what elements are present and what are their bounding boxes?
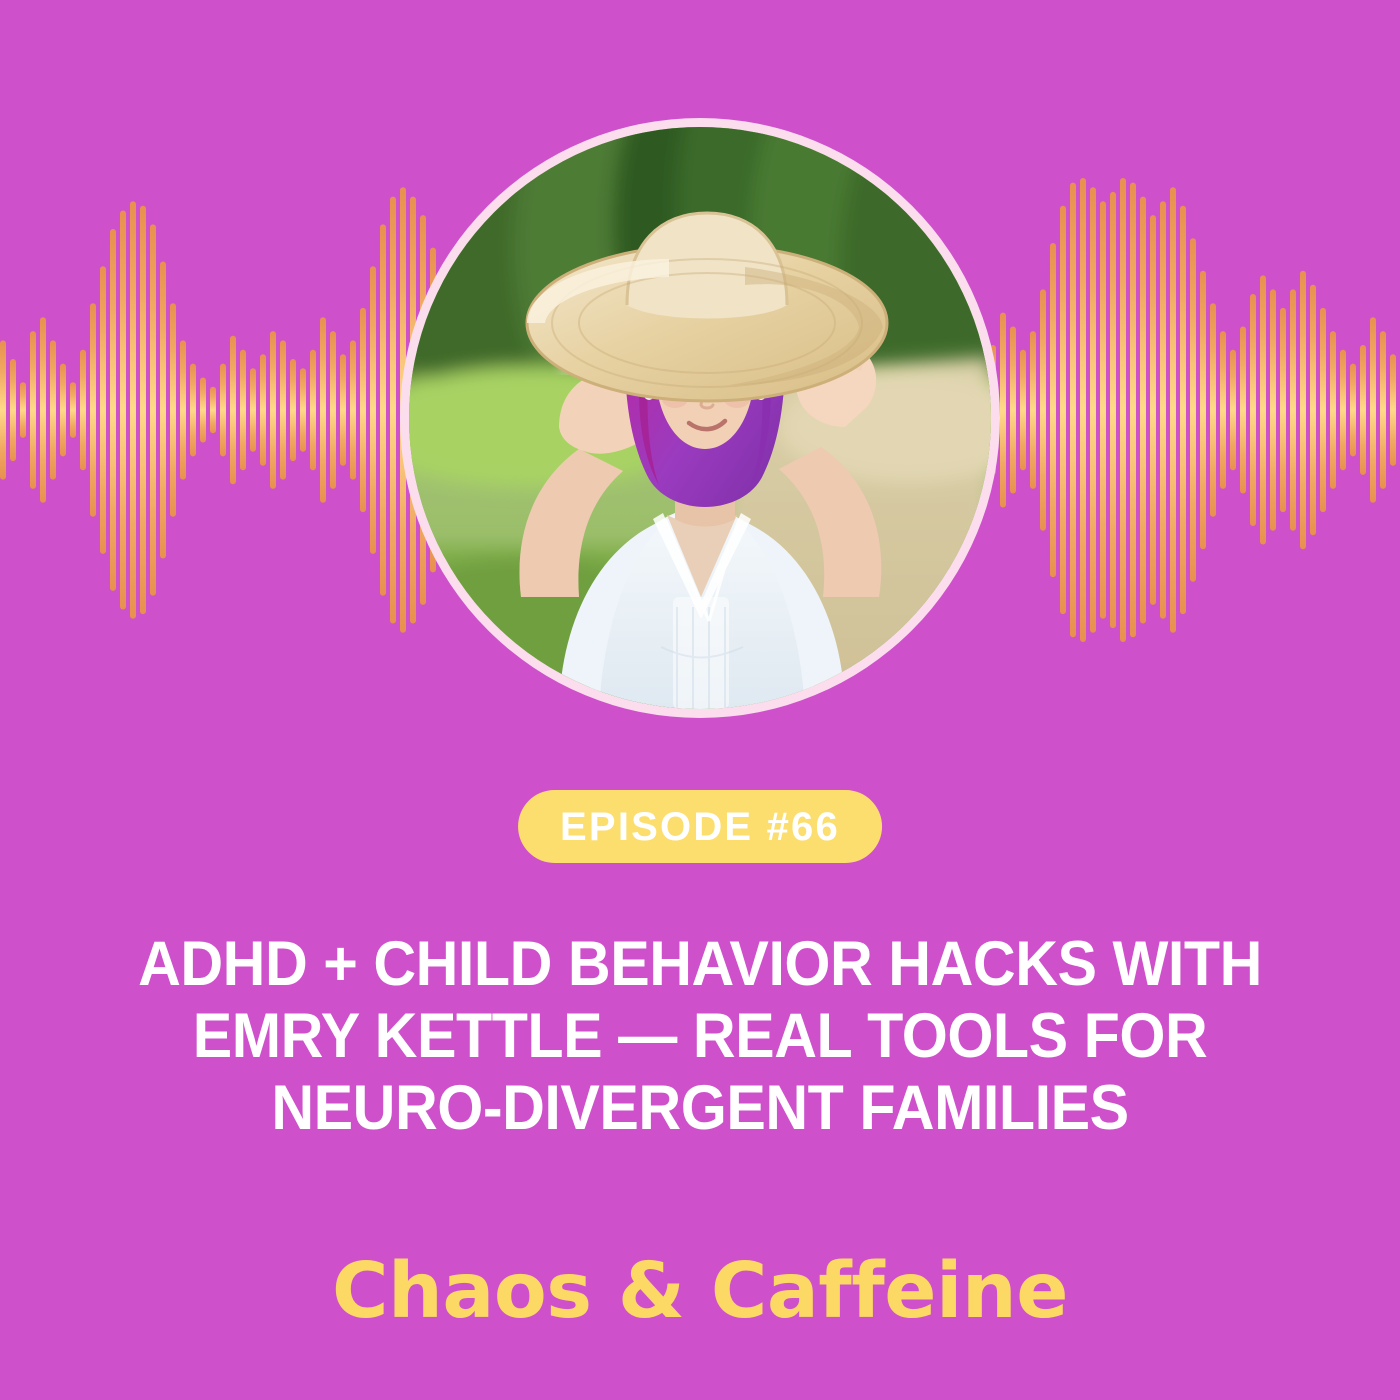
episode-badge: EPISODE #66 bbox=[518, 790, 882, 863]
guest-portrait-frame bbox=[400, 118, 1000, 718]
show-name: Chaos & Caffeine bbox=[0, 1246, 1400, 1338]
podcast-cover: EPISODE #66 ADHD + CHILD BEHAVIOR HACKS … bbox=[0, 0, 1400, 1400]
guest-portrait bbox=[409, 127, 991, 709]
episode-badge-label: EPISODE #66 bbox=[560, 807, 840, 847]
episode-title-line-2: EMRY KETTLE — REAL TOOLS FOR bbox=[108, 1000, 1292, 1072]
episode-title-line-3: NEURO-DIVERGENT FAMILIES bbox=[108, 1072, 1292, 1144]
episode-title: ADHD + CHILD BEHAVIOR HACKS WITH EMRY KE… bbox=[108, 928, 1292, 1144]
episode-title-line-1: ADHD + CHILD BEHAVIOR HACKS WITH bbox=[108, 928, 1292, 1000]
